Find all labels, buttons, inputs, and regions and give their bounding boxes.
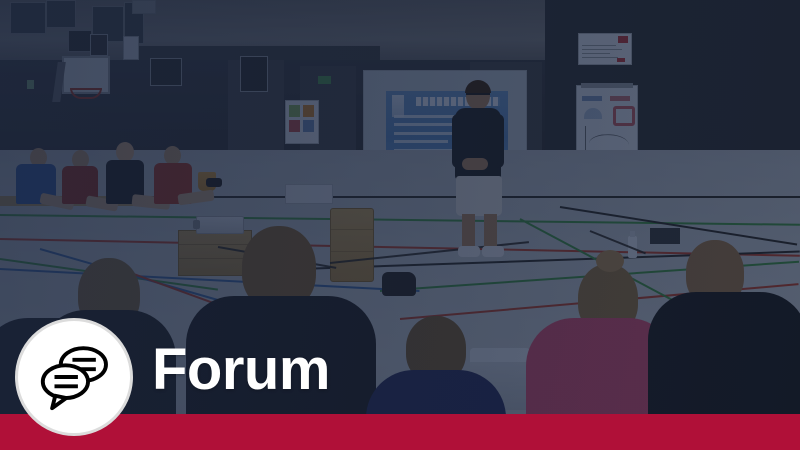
forum-logo-badge bbox=[15, 318, 133, 436]
speech-bubbles-icon bbox=[35, 338, 113, 416]
page-title: Forum bbox=[152, 340, 330, 400]
forum-banner: Forum bbox=[0, 0, 800, 450]
accent-bar bbox=[0, 414, 800, 450]
